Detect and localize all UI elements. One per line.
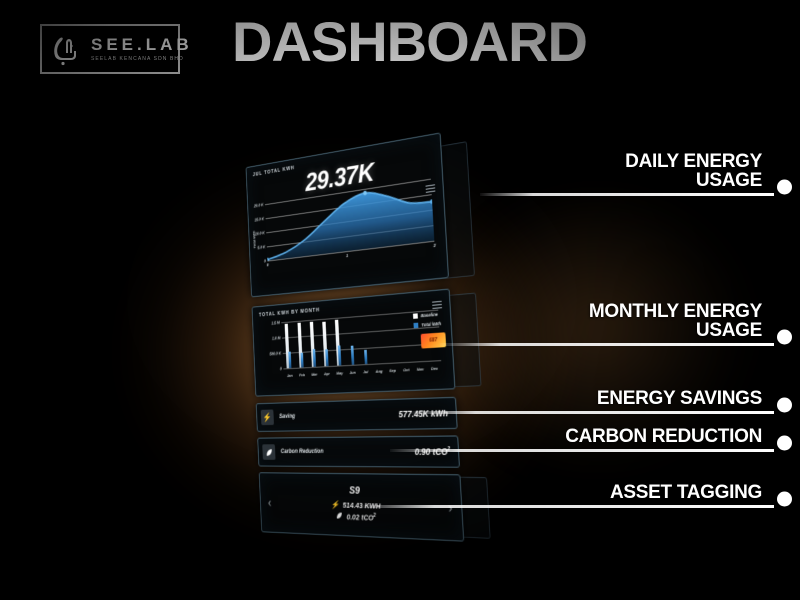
callout-label: ASSET TAGGING xyxy=(610,483,762,502)
callout-asset-tagging: ASSET TAGGING xyxy=(300,462,796,508)
callout-label: MONTHLY ENERGY USAGE xyxy=(589,302,762,340)
callout-dot xyxy=(777,330,792,345)
callout-daily-energy-usage: DAILY ENERGY USAGE xyxy=(300,150,796,196)
callout-dot xyxy=(777,492,792,507)
callout-line xyxy=(480,193,774,196)
callout-label: CARBON REDUCTION xyxy=(565,427,762,446)
callout-dot xyxy=(777,180,792,195)
callout-line xyxy=(390,449,774,452)
callout-carbon-reduction: CARBON REDUCTION xyxy=(300,406,796,452)
callout-group: DAILY ENERGY USAGE MONTHLY ENERGY USAGE … xyxy=(0,0,800,600)
callout-dot xyxy=(777,436,792,451)
callout-monthly-energy-usage: MONTHLY ENERGY USAGE xyxy=(300,300,796,346)
callout-label: DAILY ENERGY USAGE xyxy=(625,152,762,190)
callout-line xyxy=(360,505,774,508)
callout-line xyxy=(440,343,774,346)
